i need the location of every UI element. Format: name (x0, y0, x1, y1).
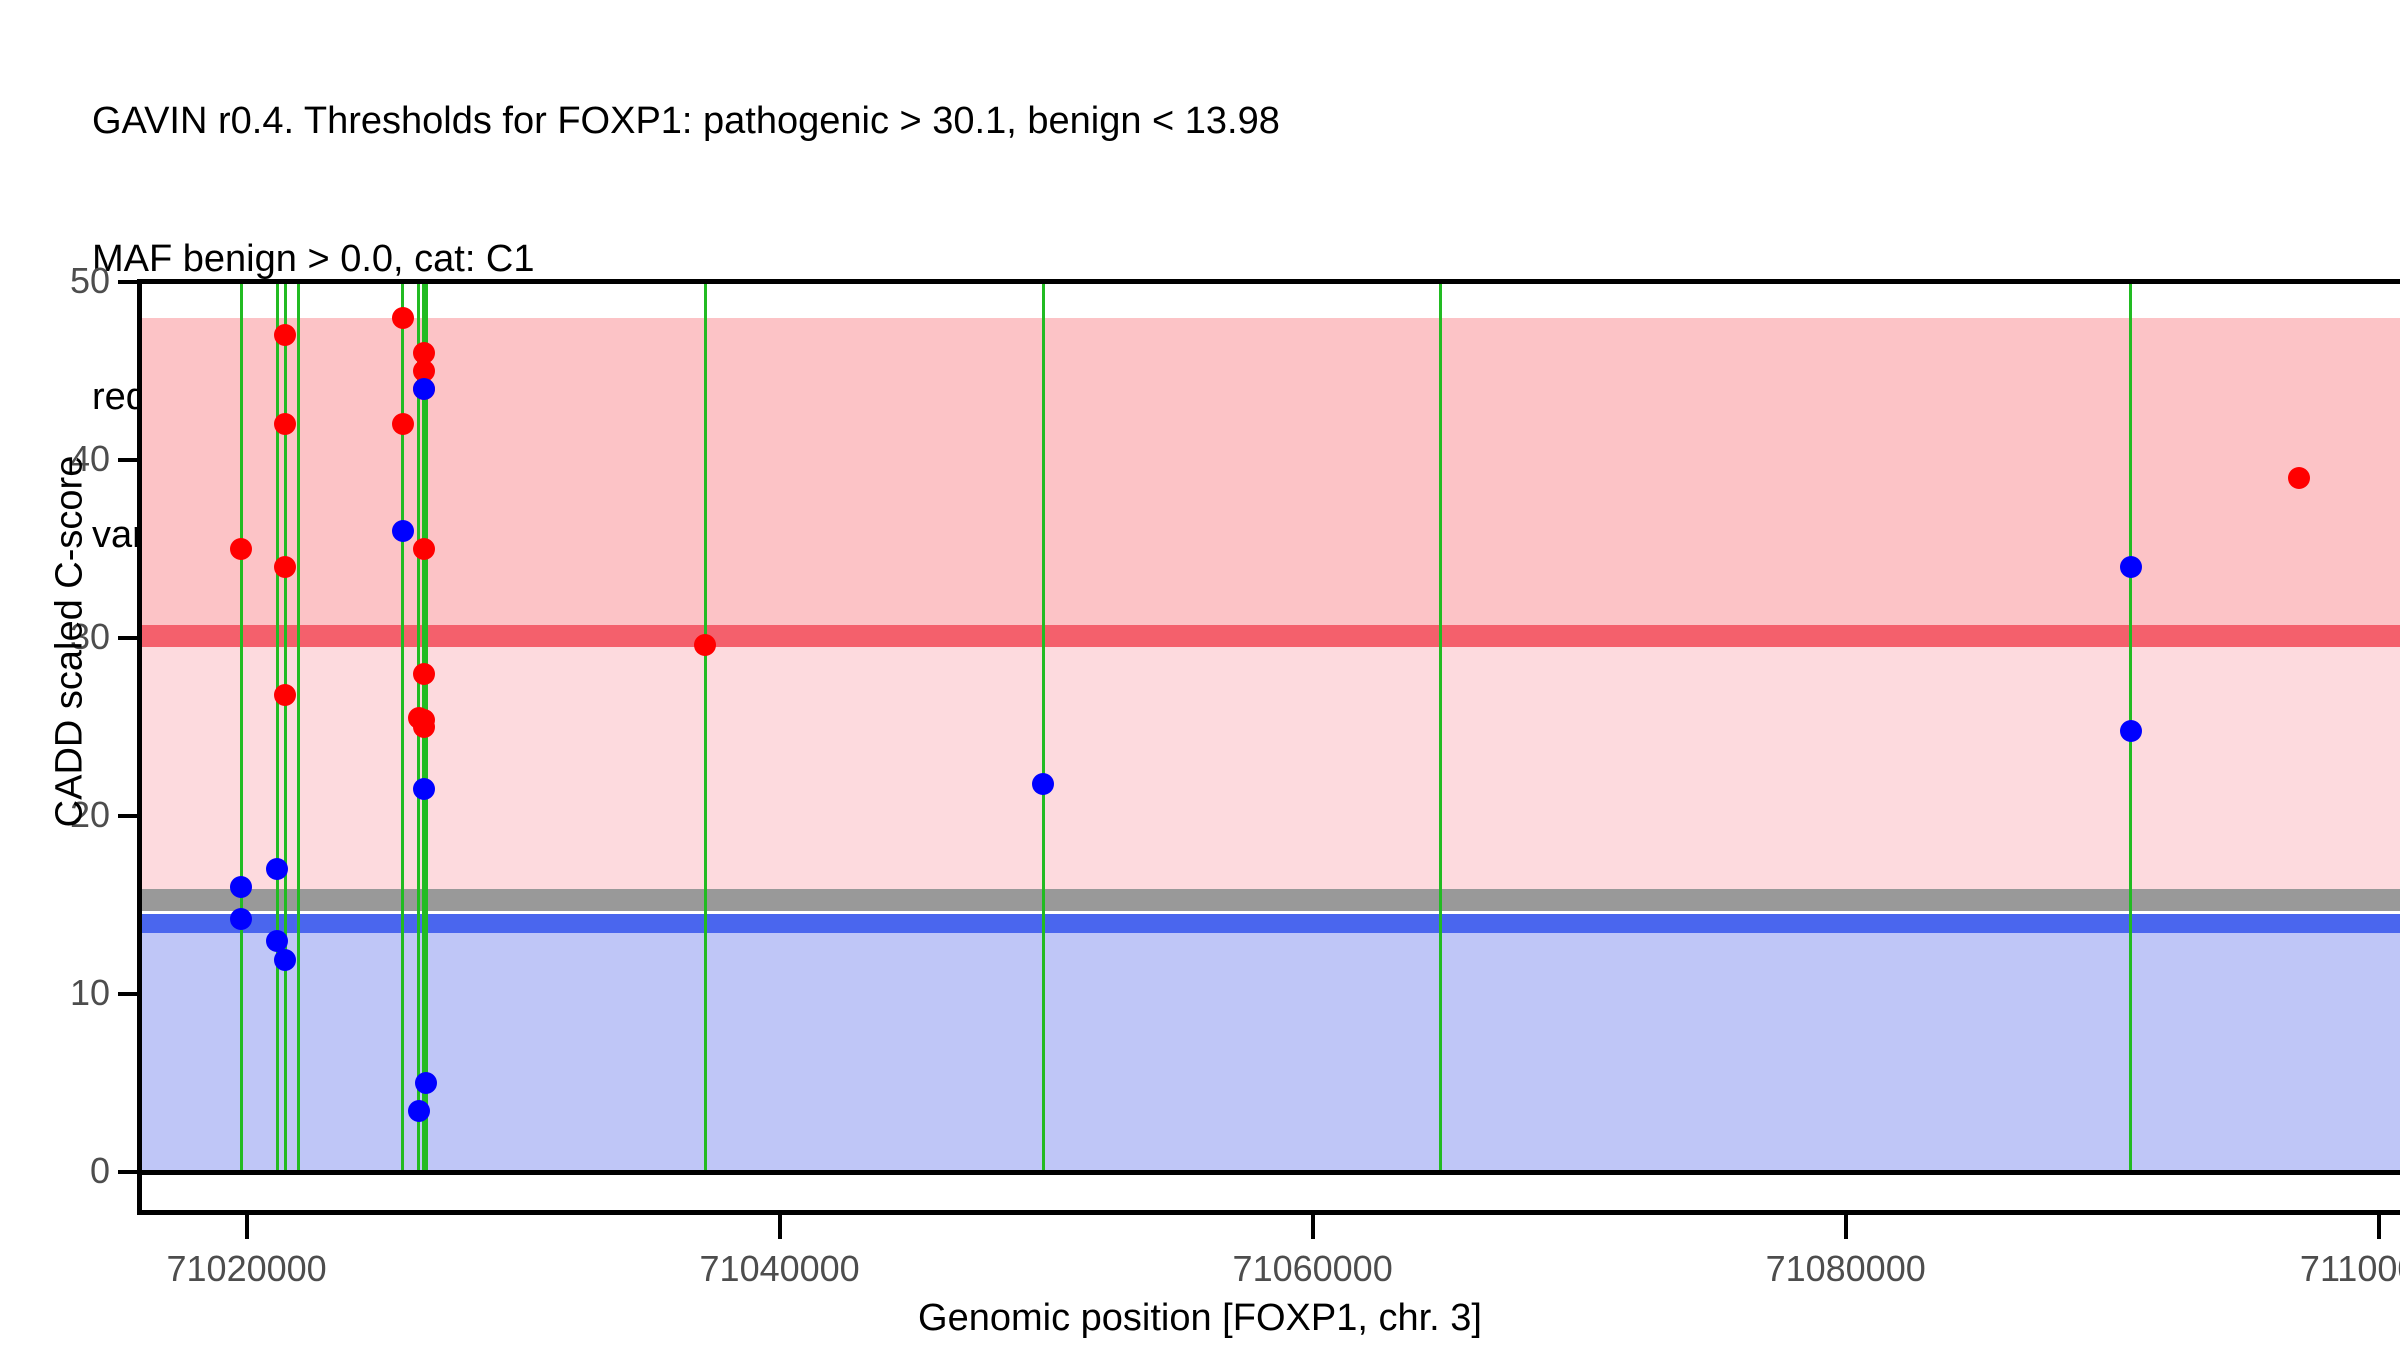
pathogenic-variant-point (413, 663, 435, 685)
pathogenic-variant-point (274, 324, 296, 346)
pathogenic-variant-point (274, 556, 296, 578)
gnomad-variant-point (415, 1072, 437, 1094)
axis-frame-left-spine (137, 1170, 142, 1215)
y-axis-tick (118, 1170, 140, 1174)
gnomad-variant-point (413, 378, 435, 400)
axis-left-spine (137, 279, 142, 1175)
y-axis-tick (118, 992, 140, 996)
gnomad-variant-point (230, 908, 252, 930)
gnomad-variant-point (2120, 556, 2142, 578)
x-axis-tick (245, 1215, 249, 1239)
exon-line (240, 282, 243, 1172)
gnomad-variant-point (392, 520, 414, 542)
gnomad-variant-point (266, 858, 288, 880)
gnomad-variant-point (230, 876, 252, 898)
pathogenic-variant-point (2288, 467, 2310, 489)
pathogenic-variant-point (694, 634, 716, 656)
y-axis-tick (118, 636, 140, 640)
pathogenic-variant-point (413, 538, 435, 560)
gnomad-variant-point (408, 1100, 430, 1122)
title-line-1: GAVIN r0.4. Thresholds for FOXP1: pathog… (92, 98, 2372, 144)
title-line-2: MAF benign > 0.0, cat: C1 (92, 236, 2372, 282)
exon-line (704, 282, 707, 1172)
gnomad-variant-point (1032, 773, 1054, 795)
y-axis-tick (118, 280, 140, 284)
x-axis-tick-label: 71100000 (2300, 1248, 2400, 1290)
exon-line (1439, 282, 1442, 1172)
gnomad-variant-point (274, 949, 296, 971)
pathogenic-threshold-line (140, 625, 2400, 647)
gavin-cadd-scatter-figure: GAVIN r0.4. Thresholds for FOXP1: pathog… (0, 0, 2400, 1350)
y-axis-tick (118, 814, 140, 818)
pathogenic-variant-point (274, 684, 296, 706)
pathogenic-variant-point (230, 538, 252, 560)
plot-area (140, 282, 2400, 1172)
y-axis-title: CADD scaled C-score (49, 242, 92, 1042)
region-band-pathogenic (140, 318, 2400, 637)
exon-line (1042, 282, 1045, 1172)
axis-frame-bottom-spine (137, 1210, 2400, 1215)
y-axis-tick (118, 458, 140, 462)
x-axis-title: Genomic position [FOXP1, chr. 3] (0, 1297, 2400, 1340)
pathogenic-variant-point (274, 413, 296, 435)
axis-top-spine (140, 279, 2400, 284)
x-axis-tick-label: 71040000 (700, 1248, 860, 1290)
pathogenic-variant-point (392, 413, 414, 435)
fallback-threshold-line (140, 889, 2400, 911)
pathogenic-variant-point (392, 307, 414, 329)
gnomad-variant-point (413, 778, 435, 800)
region-band-benign (140, 923, 2400, 1172)
axis-inner-bottom-spine (140, 1170, 2400, 1175)
y-axis-tick-label: 0 (0, 1150, 110, 1192)
benign-threshold-line (140, 914, 2400, 933)
x-axis-tick-label: 71060000 (1233, 1248, 1393, 1290)
gnomad-variant-point (2120, 720, 2142, 742)
exon-line (297, 282, 300, 1172)
x-axis-tick-label: 71080000 (1766, 1248, 1926, 1290)
x-axis-tick-label: 71020000 (167, 1248, 327, 1290)
x-axis-tick (778, 1215, 782, 1239)
x-axis-tick (1311, 1215, 1315, 1239)
x-axis-tick (1844, 1215, 1848, 1239)
pathogenic-variant-point (413, 716, 435, 738)
region-band-vus (140, 636, 2400, 899)
x-axis-tick (2377, 1215, 2381, 1239)
